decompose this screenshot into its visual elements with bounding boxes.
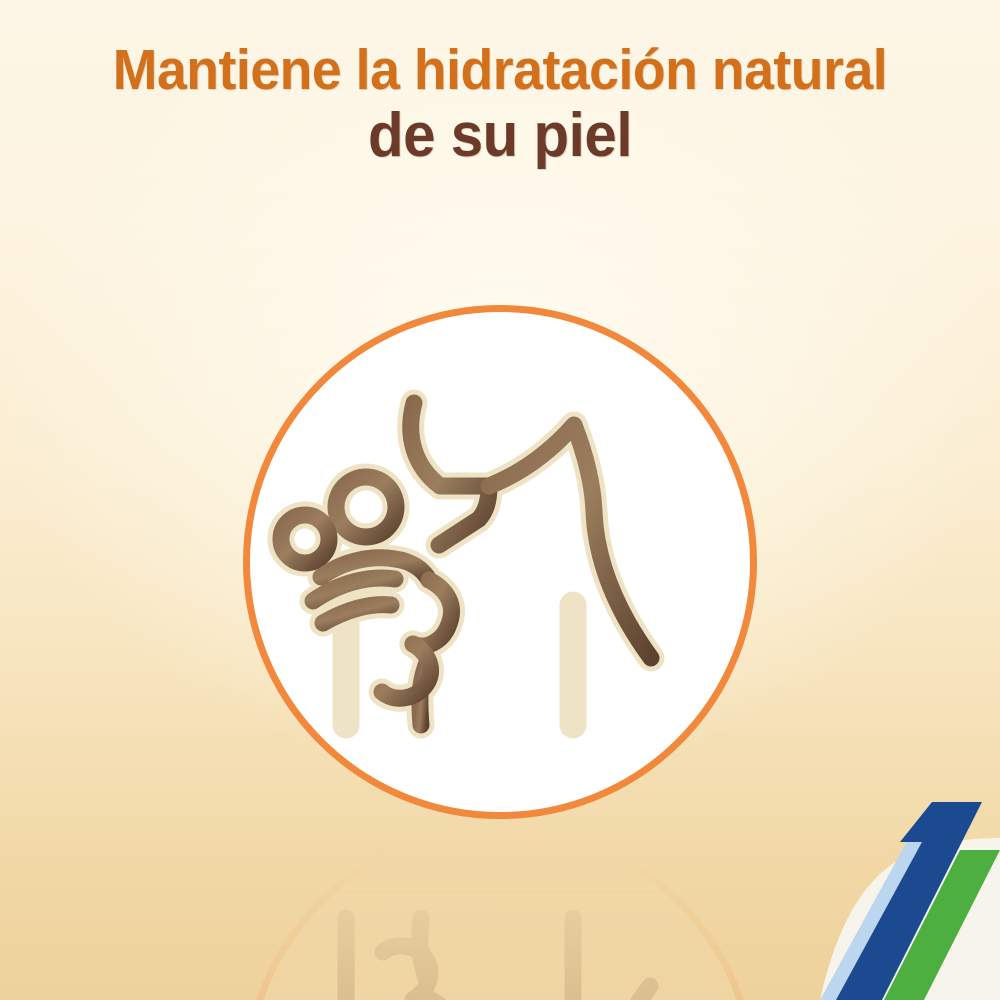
brand-corner-stripes-logo: [670, 780, 1000, 1000]
heading-line-1: Mantiene la hidratación natural: [30, 42, 970, 99]
page-title: Mantiene la hidratación natural de su pi…: [0, 42, 1000, 167]
heading-line-2: de su piel: [30, 105, 970, 167]
person-applying-lotion-to-shoulder-icon: [243, 305, 757, 819]
promo-banner: Mantiene la hidratación natural de su pi…: [0, 0, 1000, 1000]
feature-badge: [243, 305, 757, 819]
